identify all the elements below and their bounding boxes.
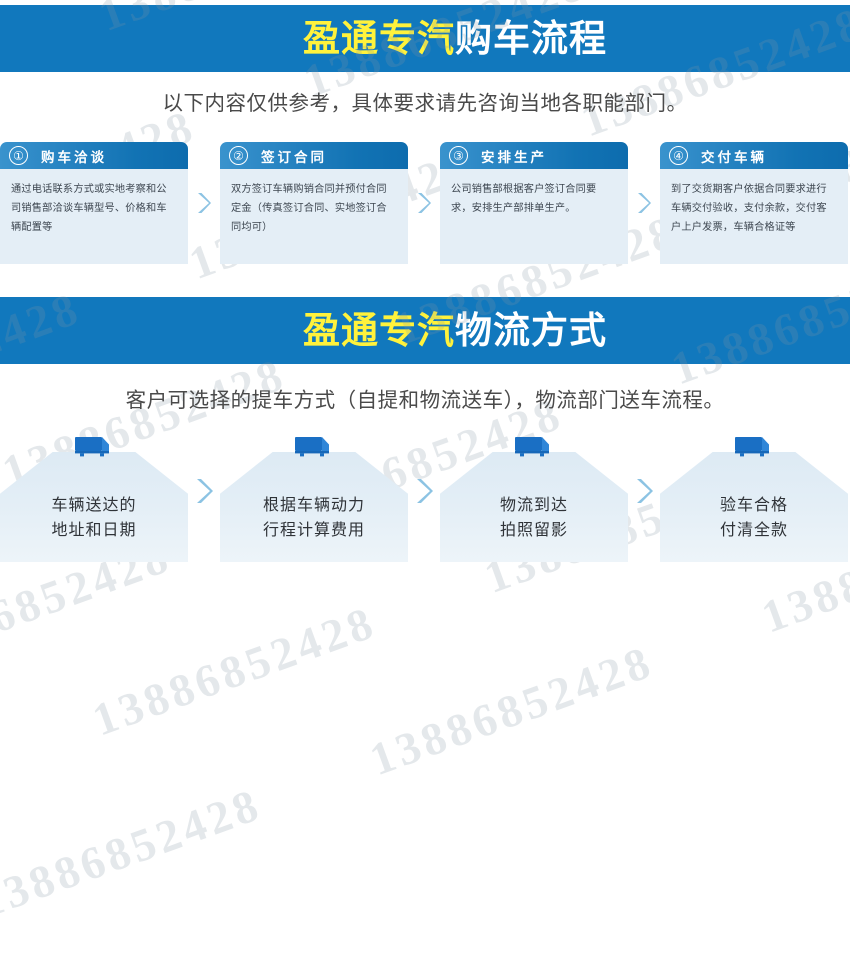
step-header-2: ② 签订合同 bbox=[220, 142, 408, 169]
banner-top-title-rest: 购车流程 bbox=[455, 17, 607, 60]
step-separator-1 bbox=[188, 142, 220, 264]
step-body-1: 通过电话联系方式或实地考察和公司销售部洽谈车辆型号、价格和车辆配置等 bbox=[0, 169, 188, 264]
logistics-card-4[interactable]: 验车合格 付清全款 bbox=[660, 434, 848, 562]
step-title-3: 安排生产 bbox=[481, 146, 547, 166]
banner-mid-title-rest: 物流方式 bbox=[455, 309, 607, 352]
step-card-4[interactable]: ④ 交付车辆 到了交货期客户依据合同要求进行车辆交付验收，支付余款，交付客户上户… bbox=[660, 142, 848, 264]
logistics-card-3[interactable]: 物流到达 拍照留影 bbox=[440, 434, 628, 562]
step-number-badge-3: ③ bbox=[449, 146, 468, 165]
step-header-3: ③ 安排生产 bbox=[440, 142, 628, 169]
banner-mid-title-highlight: 盈通专汽 bbox=[303, 309, 455, 352]
watermark-text: 13886852428 bbox=[86, 596, 383, 746]
step-title-1: 购车洽谈 bbox=[41, 146, 107, 166]
logistics-line2-2: 行程计算费用 bbox=[263, 518, 365, 543]
watermark-text: 13886852428 bbox=[363, 636, 660, 786]
logistics-separator-1 bbox=[188, 434, 220, 562]
banner-logistics-method: 盈通专汽物流方式 bbox=[0, 297, 850, 364]
step-body-4: 到了交货期客户依据合同要求进行车辆交付验收，支付余款，交付客户上户发票，车辆合格… bbox=[660, 169, 848, 264]
truck-icon bbox=[513, 434, 555, 460]
step-number-badge-4: ④ bbox=[669, 146, 688, 165]
step-number-badge-1: ① bbox=[9, 146, 28, 165]
logistics-line1-3: 物流到达 bbox=[500, 493, 568, 518]
truck-icon bbox=[293, 434, 335, 460]
chevron-right-icon bbox=[636, 478, 653, 504]
chevron-right-icon bbox=[637, 192, 651, 214]
logistics-line2-3: 拍照留影 bbox=[500, 518, 568, 543]
step-body-3: 公司销售部根据客户签订合同要求，安排生产部排单生产。 bbox=[440, 169, 628, 264]
step-separator-2 bbox=[408, 142, 440, 264]
logistics-text-3: 物流到达 拍照留影 bbox=[440, 452, 628, 562]
banner-mid-title: 盈通专汽物流方式 bbox=[303, 312, 607, 349]
banner-purchase-process: 盈通专汽购车流程 bbox=[0, 5, 850, 72]
step-separator-3 bbox=[628, 142, 660, 264]
purchase-steps-row: ① 购车洽谈 通过电话联系方式或实地考察和公司销售部洽谈车辆型号、价格和车辆配置… bbox=[0, 142, 850, 264]
banner-top-title-highlight: 盈通专汽 bbox=[303, 17, 455, 60]
chevron-right-icon bbox=[416, 478, 433, 504]
step-title-4: 交付车辆 bbox=[701, 146, 767, 166]
logistics-line1-4: 验车合格 bbox=[720, 493, 788, 518]
logistics-separator-3 bbox=[628, 434, 660, 562]
chevron-right-icon bbox=[197, 192, 211, 214]
logistics-line1-2: 根据车辆动力 bbox=[263, 493, 365, 518]
step-body-2: 双方签订车辆购销合同并预付合同定金（传真签订合同、实地签订合同均可） bbox=[220, 169, 408, 264]
step-card-2[interactable]: ② 签订合同 双方签订车辆购销合同并预付合同定金（传真签订合同、实地签订合同均可… bbox=[220, 142, 408, 264]
logistics-line1-1: 车辆送达的 bbox=[51, 493, 136, 518]
step-header-4: ④ 交付车辆 bbox=[660, 142, 848, 169]
logistics-separator-2 bbox=[408, 434, 440, 562]
subtitle-purchase-note: 以下内容仅供参考，具体要求请先咨询当地各职能部门。 bbox=[0, 86, 850, 116]
step-card-1[interactable]: ① 购车洽谈 通过电话联系方式或实地考察和公司销售部洽谈车辆型号、价格和车辆配置… bbox=[0, 142, 188, 264]
truck-icon bbox=[73, 434, 115, 460]
step-title-2: 签订合同 bbox=[261, 146, 327, 166]
logistics-steps-row: 车辆送达的 地址和日期 根据车辆动力 行程计算费用 bbox=[0, 432, 850, 562]
logistics-text-4: 验车合格 付清全款 bbox=[660, 452, 848, 562]
logistics-line2-1: 地址和日期 bbox=[51, 518, 136, 543]
logistics-text-1: 车辆送达的 地址和日期 bbox=[0, 452, 188, 562]
subtitle-logistics-note: 客户可选择的提车方式（自提和物流送车），物流部门送车流程。 bbox=[0, 383, 850, 413]
truck-icon bbox=[733, 434, 775, 460]
logistics-card-1[interactable]: 车辆送达的 地址和日期 bbox=[0, 434, 188, 562]
logistics-text-2: 根据车辆动力 行程计算费用 bbox=[220, 452, 408, 562]
banner-top-title: 盈通专汽购车流程 bbox=[303, 20, 607, 57]
chevron-right-icon bbox=[417, 192, 431, 214]
step-header-1: ① 购车洽谈 bbox=[0, 142, 188, 169]
chevron-right-icon bbox=[196, 478, 213, 504]
watermark-text: 13886852428 bbox=[0, 778, 268, 928]
step-number-badge-2: ② bbox=[229, 146, 248, 165]
logistics-line2-4: 付清全款 bbox=[720, 518, 788, 543]
logistics-card-2[interactable]: 根据车辆动力 行程计算费用 bbox=[220, 434, 408, 562]
step-card-3[interactable]: ③ 安排生产 公司销售部根据客户签订合同要求，安排生产部排单生产。 bbox=[440, 142, 628, 264]
